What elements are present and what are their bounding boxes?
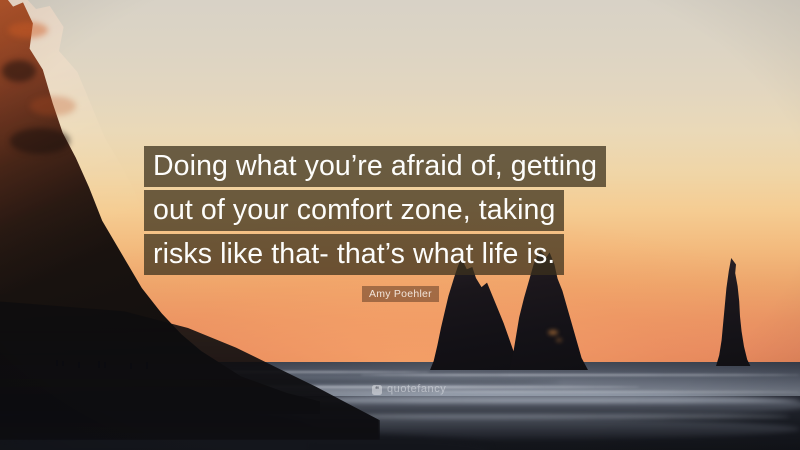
quote-author: Amy Poehler: [362, 286, 439, 302]
beach-figure: [62, 361, 64, 366]
watermark: ❝ quotefancy: [372, 384, 446, 395]
cliff-texture-3: [30, 96, 76, 116]
quote-line-3: risks like that- that’s what life is.: [144, 234, 564, 275]
quote-line-2: out of your comfort zone, taking: [144, 190, 564, 231]
beach-figure: [78, 362, 80, 368]
beach-figure: [56, 360, 58, 366]
beach-figure: [130, 363, 132, 369]
quote-mark-logo-icon: ❝: [372, 385, 382, 395]
cliff-texture-1: [8, 22, 48, 38]
beach-figure: [98, 361, 100, 368]
beach-figure: [146, 362, 148, 369]
beach-figure: [104, 362, 106, 368]
quote-wallpaper-image: Doing what you’re afraid of, getting out…: [0, 0, 800, 450]
surf-line-1: [300, 398, 800, 403]
quote-line-1: Doing what you’re afraid of, getting: [144, 146, 606, 187]
stack-highlight: [548, 330, 558, 335]
watermark-brand: quotefancy: [387, 384, 446, 395]
stack-highlight-2: [556, 338, 562, 342]
cliff-texture-4: [10, 128, 70, 154]
quote-text-block: Doing what you’re afraid of, getting out…: [144, 146, 606, 275]
cliff-texture-2: [2, 60, 36, 82]
